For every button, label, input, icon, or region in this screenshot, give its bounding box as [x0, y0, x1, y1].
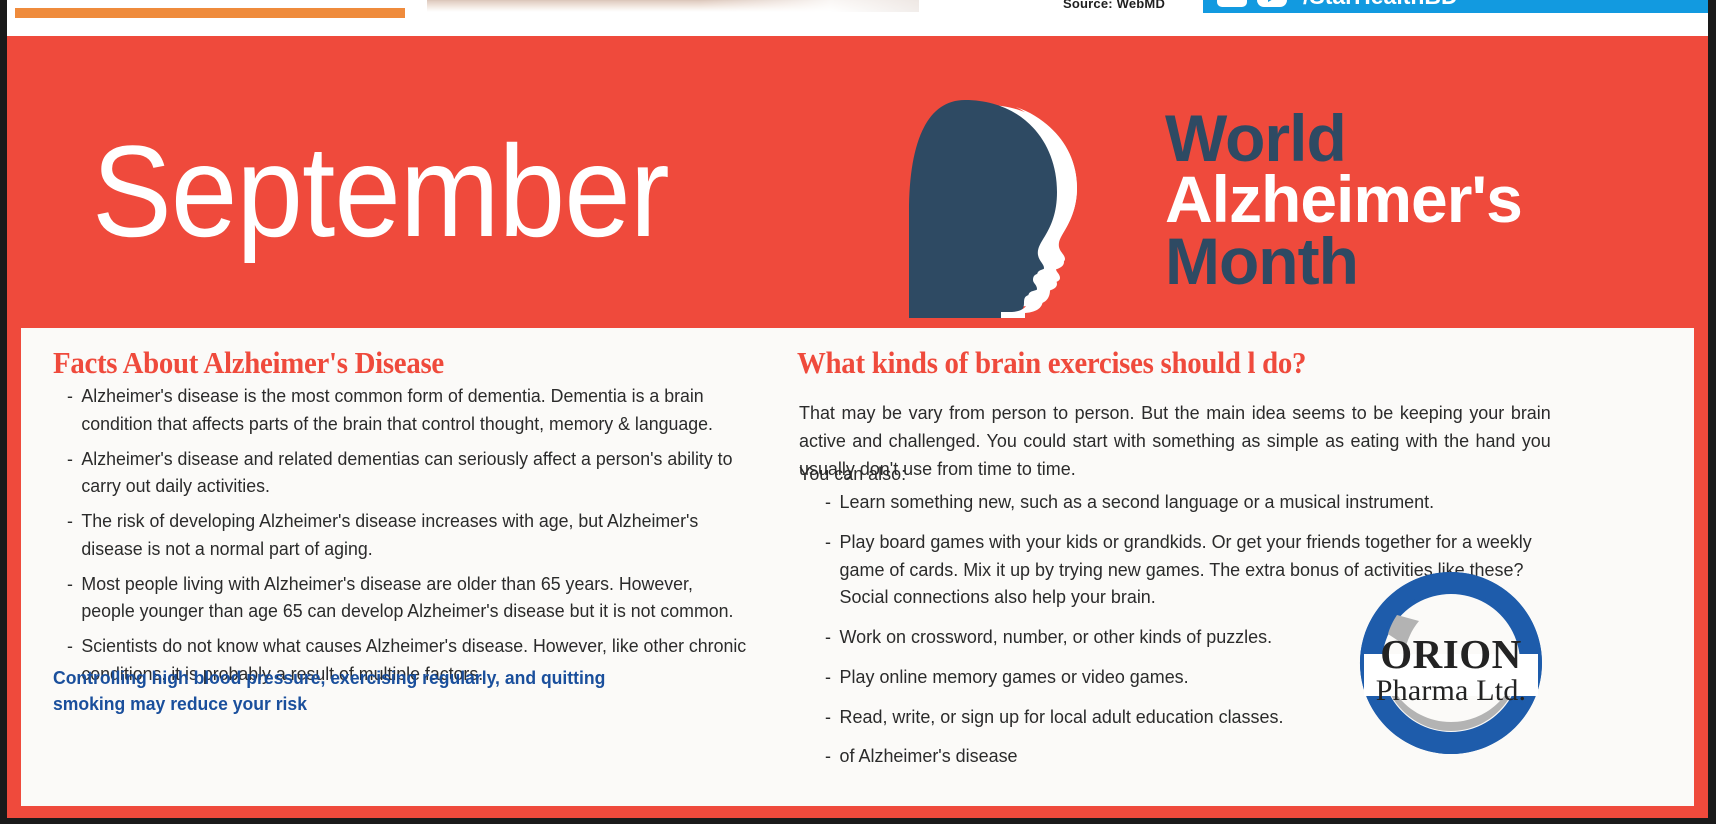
bullet-dash: - — [825, 703, 831, 731]
hero-banner: September World Alzheimer's Month — [7, 36, 1708, 318]
orion-logo-subtitle: Pharma Ltd. — [1351, 676, 1551, 706]
content-panel: Facts About Alzheimer's Disease - Alzhei… — [21, 328, 1694, 806]
list-item-text: Work on crossword, number, or other kind… — [840, 626, 1273, 647]
banner-title-line-3: Month — [1165, 231, 1705, 292]
banner-title-line-1: World — [1165, 108, 1705, 169]
risk-reduction-note: Controlling high blood pressure, exercis… — [53, 665, 680, 718]
bullet-dash: - — [825, 742, 831, 770]
list-item: - The risk of developing Alzheimer's dis… — [67, 507, 751, 563]
youtube-icon[interactable] — [1257, 0, 1287, 7]
list-item-text: Learn something new, such as a second la… — [840, 491, 1435, 512]
content-panel-frame: Facts About Alzheimer's Disease - Alzhei… — [7, 318, 1708, 818]
slide-page: Source: WebMD /StarHealthBD September Wo… — [0, 0, 1716, 824]
social-handle-text: /StarHealthBD — [1303, 0, 1458, 10]
list-item-text: of Alzheimer's disease — [840, 745, 1018, 766]
list-item: - Alzheimer's disease is the most common… — [67, 382, 751, 438]
list-item-text: The risk of developing Alzheimer's disea… — [81, 510, 698, 559]
list-item: - Most people living with Alzheimer's di… — [67, 570, 751, 626]
page-edge-left — [0, 0, 7, 824]
orion-logo-name: ORION — [1351, 634, 1551, 675]
dual-head-silhouette-icon — [895, 92, 1125, 322]
bullet-dash: - — [825, 528, 831, 556]
intro-paragraph: That may be vary from person to person. … — [799, 399, 1551, 483]
brain-exercises-heading: What kinds of brain exercises should l d… — [797, 345, 1306, 381]
source-label: Source: WebMD — [1063, 0, 1165, 11]
list-item: - Learn something new, such as a second … — [825, 488, 1543, 516]
facebook-icon[interactable] — [1217, 0, 1247, 7]
top-residual-strip: Source: WebMD /StarHealthBD — [7, 0, 1708, 36]
facts-heading: Facts About Alzheimer's Disease — [53, 345, 444, 381]
bullet-dash: - — [67, 445, 73, 473]
orange-divider-rule — [15, 8, 405, 18]
banner-title: World Alzheimer's Month — [1165, 108, 1705, 292]
banner-title-line-2: Alzheimer's — [1165, 169, 1705, 230]
facts-list: - Alzheimer's disease is the most common… — [67, 382, 751, 695]
photo-strip-remnant — [427, 0, 919, 12]
bullet-dash: - — [67, 632, 73, 660]
list-item: - Alzheimer's disease and related dement… — [67, 445, 751, 501]
list-item-text: Alzheimer's disease and related dementia… — [81, 448, 732, 497]
month-title: September — [92, 126, 669, 256]
bullet-dash: - — [825, 488, 831, 516]
page-edge-right — [1708, 0, 1716, 824]
list-item-text: Play online memory games or video games. — [840, 666, 1189, 687]
bullet-dash: - — [825, 663, 831, 691]
bullet-dash: - — [825, 623, 831, 651]
bullet-dash: - — [67, 570, 73, 598]
list-item-text: Most people living with Alzheimer's dise… — [81, 573, 733, 622]
bullet-dash: - — [67, 382, 73, 410]
social-handle-bar: /StarHealthBD — [1203, 0, 1708, 13]
list-item-text: Read, write, or sign up for local adult … — [840, 706, 1284, 727]
bullet-dash: - — [67, 507, 73, 535]
list-item-text: Alzheimer's disease is the most common f… — [81, 385, 713, 434]
page-edge-bottom — [0, 818, 1716, 824]
you-can-also-label: You can also: — [799, 463, 906, 485]
